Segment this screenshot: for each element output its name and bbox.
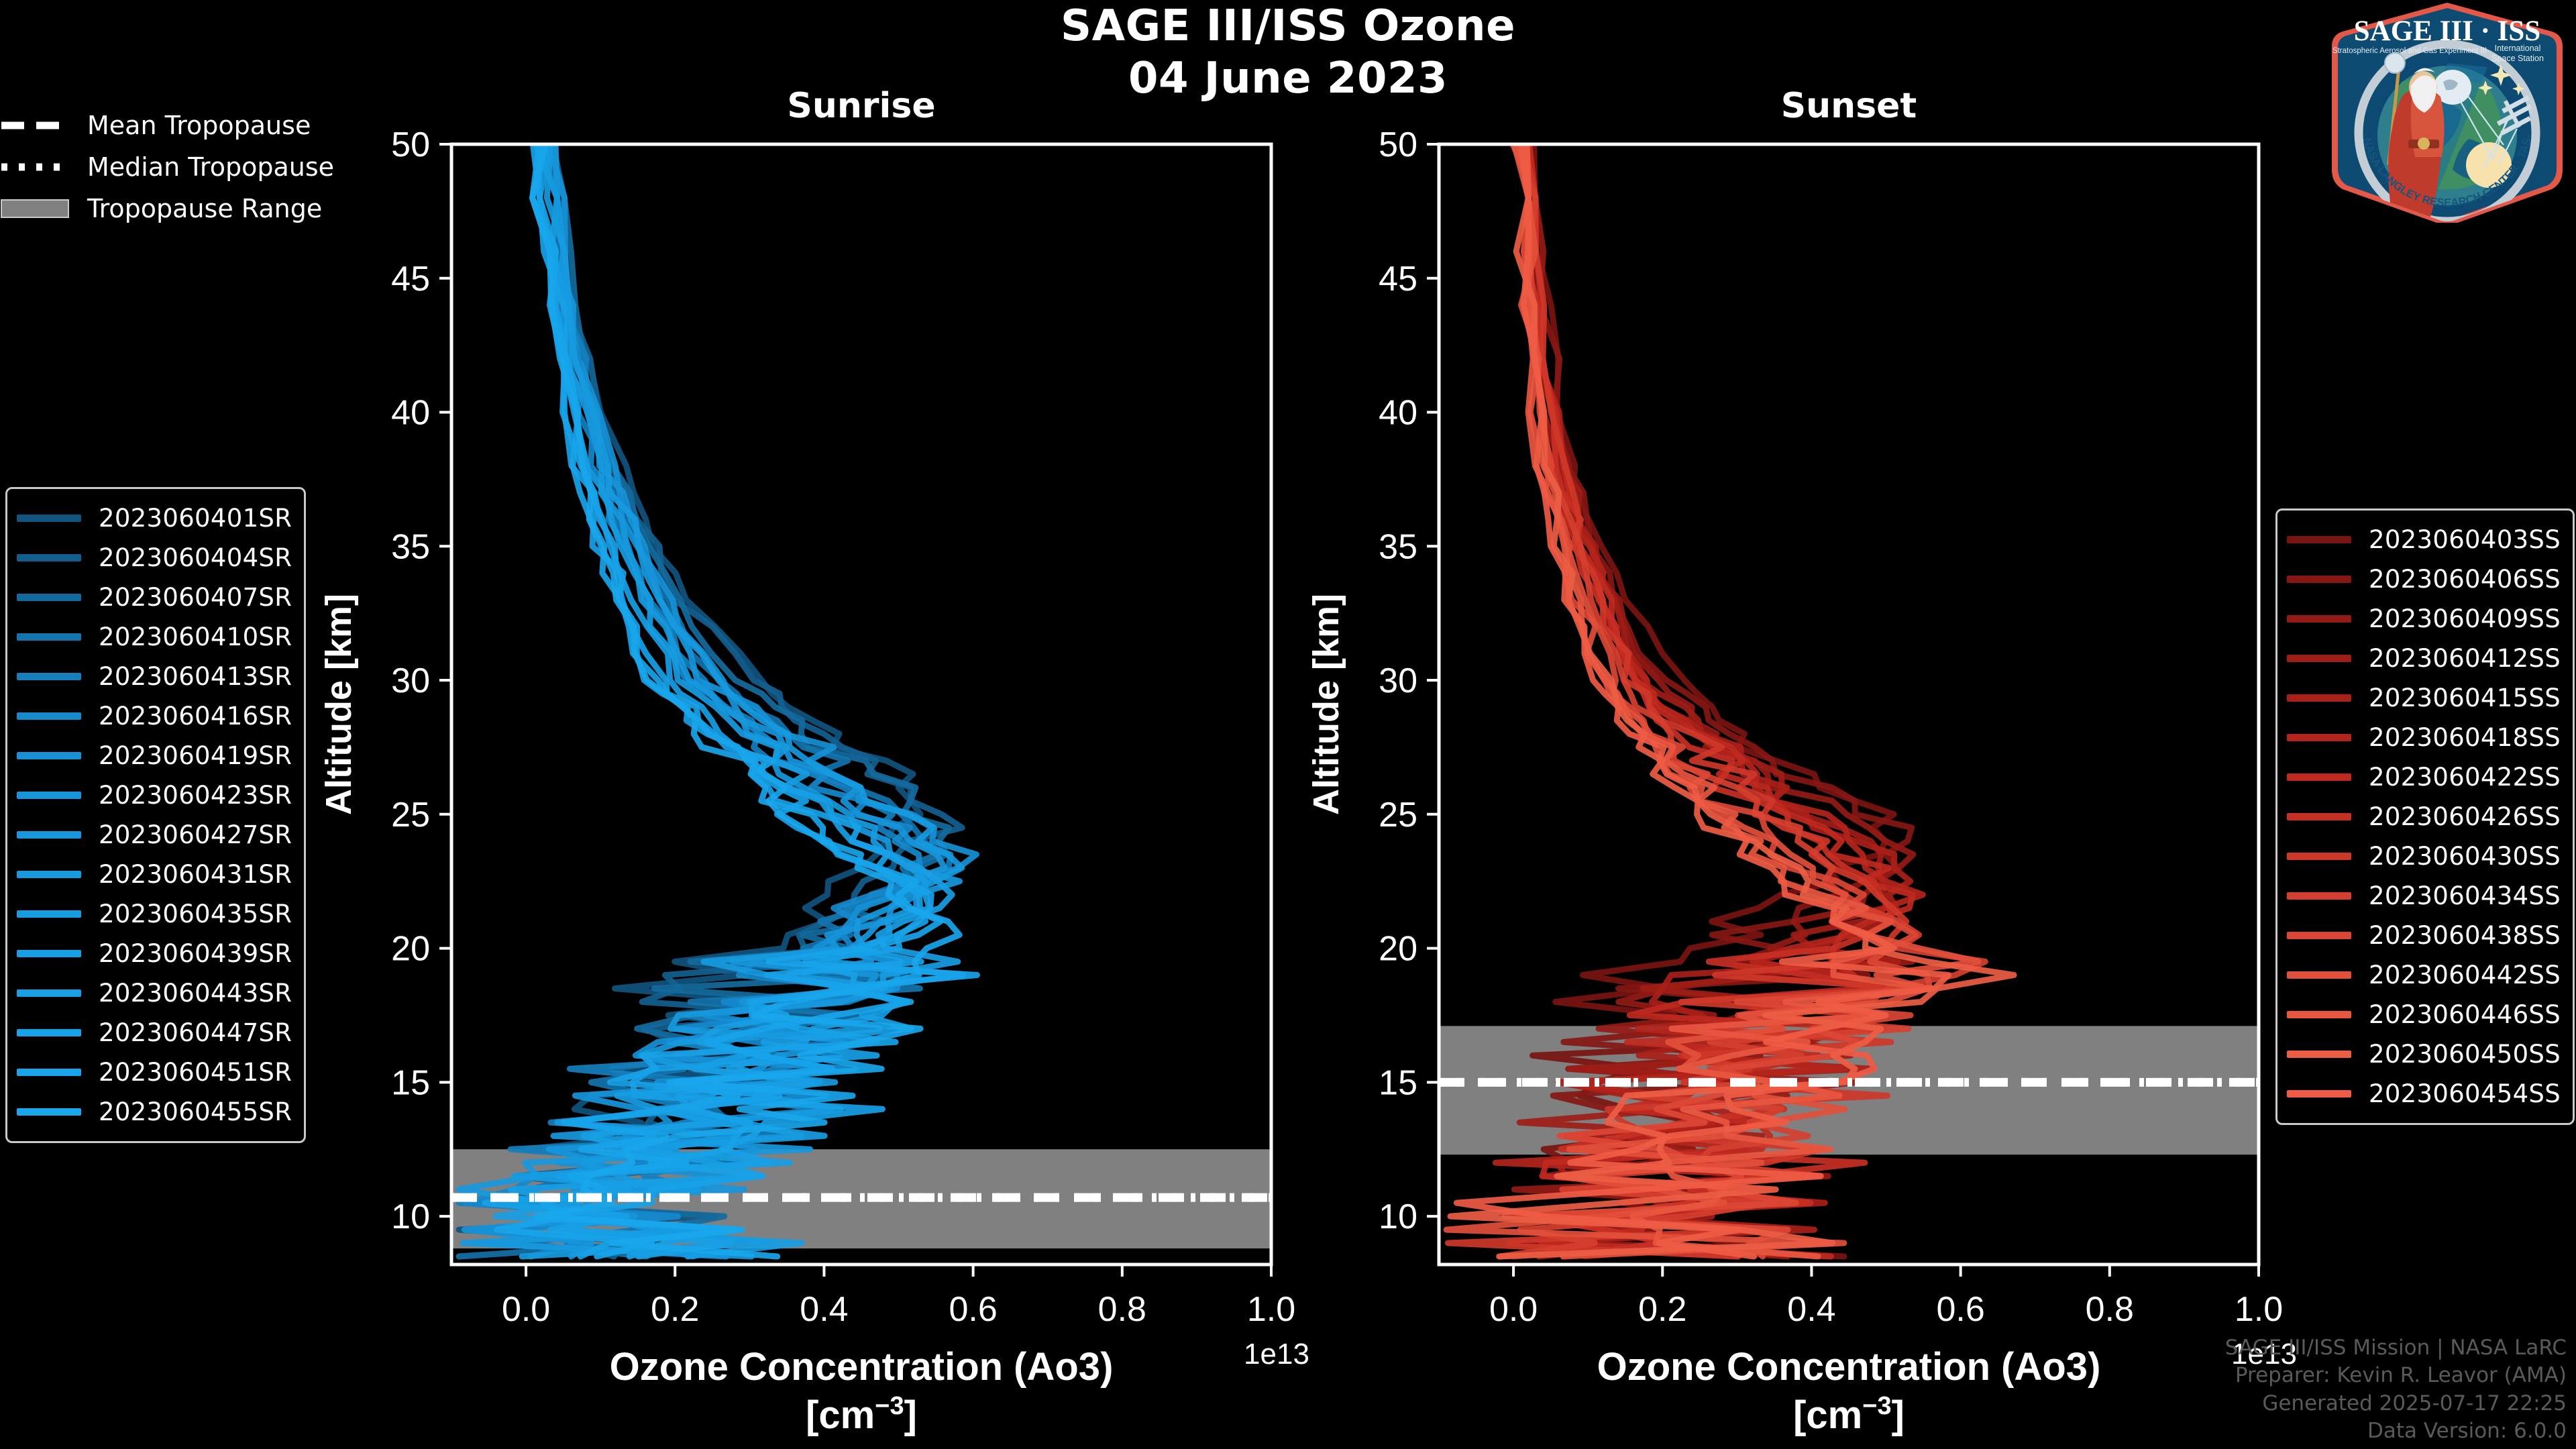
- sunset-legend-color-swatch: [2287, 773, 2351, 781]
- sunrise-y-tick-label: 30: [391, 661, 430, 700]
- logo-subtitle-left: Stratospheric Aerosol and Gas Experiment…: [2332, 47, 2487, 55]
- sunset-legend-item[interactable]: 2023060438SS: [2287, 916, 2561, 955]
- sunrise-legend[interactable]: 2023060401SR2023060404SR2023060407SR2023…: [5, 487, 306, 1143]
- sunset-legend-color-swatch: [2287, 1090, 2351, 1097]
- logo-subtitle-right-2: Space Station: [2491, 54, 2544, 63]
- sunset-legend-color-swatch: [2287, 694, 2351, 702]
- sunrise-legend-color-swatch: [17, 871, 81, 878]
- sunset-x-tick-label: 0.6: [1936, 1290, 1984, 1329]
- sunset-legend-color-swatch: [2287, 655, 2351, 662]
- sunset-legend-item[interactable]: 2023060409SS: [2287, 599, 2561, 639]
- sage-iii-iss-mission-patch-logo: SAGE III · ISS Stratospheric Aerosol and…: [2328, 1, 2567, 223]
- sunset-y-tick-label: 10: [1379, 1197, 1417, 1236]
- sunrise-x-tick-label: 0.0: [502, 1290, 550, 1329]
- sunrise-y-tick-label: 45: [391, 260, 430, 299]
- sunrise-y-tick-label: 40: [391, 394, 430, 433]
- sunset-legend-item[interactable]: 2023060434SS: [2287, 876, 2561, 916]
- sunset-legend-label: 2023060422SS: [2369, 763, 2561, 792]
- sunrise-legend-color-swatch: [17, 554, 81, 561]
- sunrise-legend-label: 2023060401SR: [99, 504, 292, 533]
- dotted-line-icon: [0, 157, 70, 177]
- sunrise-legend-label: 2023060410SR: [99, 623, 292, 651]
- sunset-legend-label: 2023060430SS: [2369, 842, 2561, 871]
- sunrise-legend-label: 2023060413SR: [99, 662, 292, 691]
- sunset-y-tick-label: 45: [1379, 260, 1417, 299]
- sunrise-legend-label: 2023060404SR: [99, 543, 292, 572]
- sunset-legend-item[interactable]: 2023060415SS: [2287, 678, 2561, 718]
- sunrise-legend-item[interactable]: 2023060443SR: [17, 973, 292, 1013]
- sunset-x-tick-label: 0.8: [2086, 1290, 2134, 1329]
- credits-block: SAGE III/ISS Mission | NASA LaRCPreparer…: [2225, 1334, 2567, 1445]
- sunset-legend-label: 2023060415SS: [2369, 684, 2561, 712]
- sunset-x-axis-label-line2: [cm−3]: [1793, 1392, 1904, 1437]
- sunset-x-tick-label: 0.4: [1787, 1290, 1835, 1329]
- sunrise-legend-label: 2023060431SR: [99, 860, 292, 889]
- sunset-legend-label: 2023060418SS: [2369, 723, 2561, 752]
- sunset-y-tick-label: 25: [1379, 796, 1417, 835]
- sunset-legend-item[interactable]: 2023060446SS: [2287, 995, 2561, 1034]
- sunset-legend-label: 2023060409SS: [2369, 604, 2561, 633]
- sunrise-x-tick-label: 0.2: [651, 1290, 699, 1329]
- sunset-legend-color-swatch: [2287, 813, 2351, 820]
- sunrise-legend-color-swatch: [17, 950, 81, 957]
- sunrise-legend-item[interactable]: 2023060413SR: [17, 657, 292, 696]
- sunset-x-axis-label-line1: Ozone Concentration (Ao3): [1597, 1345, 2101, 1389]
- sunset-legend-label: 2023060454SS: [2369, 1079, 2561, 1108]
- sunset-legend-label: 2023060412SS: [2369, 644, 2561, 673]
- sunset-legend-item[interactable]: 2023060430SS: [2287, 837, 2561, 876]
- sunrise-legend-item[interactable]: 2023060439SR: [17, 934, 292, 973]
- sunrise-legend-item[interactable]: 2023060431SR: [17, 855, 292, 894]
- sunrise-x-tick-label: 0.4: [800, 1290, 848, 1329]
- sunrise-legend-item[interactable]: 2023060455SR: [17, 1092, 292, 1132]
- sunrise-legend-color-swatch: [17, 1108, 81, 1116]
- sunset-legend-color-swatch: [2287, 932, 2351, 939]
- sunrise-legend-label: 2023060443SR: [99, 979, 292, 1008]
- sunrise-legend-label: 2023060427SR: [99, 820, 292, 849]
- sunrise-legend-color-swatch: [17, 712, 81, 720]
- sunset-legend-color-swatch: [2287, 615, 2351, 623]
- sunrise-legend-item[interactable]: 2023060451SR: [17, 1053, 292, 1092]
- sunset-legend-color-swatch: [2287, 576, 2351, 583]
- sunset-legend[interactable]: 2023060403SS2023060406SS2023060409SS2023…: [2275, 508, 2575, 1125]
- sunset-y-tick-label: 35: [1379, 527, 1417, 566]
- sunrise-x-axis-label-line2: [cm−3]: [806, 1392, 917, 1437]
- sunrise-legend-color-swatch: [17, 831, 81, 839]
- credits-line: Data Version: 6.0.0: [2225, 1417, 2567, 1445]
- sunset-legend-color-swatch: [2287, 734, 2351, 741]
- sunset-y-tick-label: 15: [1379, 1063, 1417, 1102]
- sunrise-legend-color-swatch: [17, 633, 81, 641]
- sunrise-legend-label: 2023060439SR: [99, 939, 292, 968]
- sunset-legend-label: 2023060403SS: [2369, 525, 2561, 554]
- sunset-legend-color-swatch: [2287, 892, 2351, 900]
- sunset-y-axis-label: Altitude [km]: [1306, 594, 1346, 815]
- sunrise-y-tick-label: 25: [391, 796, 430, 835]
- sunrise-legend-color-swatch: [17, 792, 81, 799]
- sunset-x-tick-label: 1.0: [2235, 1290, 2283, 1329]
- sunset-legend-item[interactable]: 2023060403SS: [2287, 520, 2561, 559]
- sunset-legend-item[interactable]: 2023060418SS: [2287, 718, 2561, 757]
- sunset-legend-item[interactable]: 2023060426SS: [2287, 797, 2561, 837]
- sunrise-legend-label: 2023060423SR: [99, 781, 292, 810]
- sunrise-legend-label: 2023060419SR: [99, 741, 292, 770]
- sunrise-x-tick-label: 0.6: [949, 1290, 997, 1329]
- sunset-legend-label: 2023060406SS: [2369, 565, 2561, 594]
- sunrise-legend-color-swatch: [17, 673, 81, 680]
- sunrise-legend-label: 2023060435SR: [99, 900, 292, 928]
- sunrise-legend-color-swatch: [17, 1029, 81, 1036]
- sunrise-legend-item[interactable]: 2023060407SR: [17, 578, 292, 617]
- sunset-legend-item[interactable]: 2023060406SS: [2287, 559, 2561, 599]
- sunset-legend-label: 2023060450SS: [2369, 1040, 2561, 1069]
- shaded-band-icon: [0, 199, 70, 219]
- sunrise-legend-color-swatch: [17, 1069, 81, 1076]
- sunset-legend-label: 2023060438SS: [2369, 921, 2561, 950]
- sunrise-legend-color-swatch: [17, 515, 81, 522]
- sunrise-legend-label: 2023060416SR: [99, 702, 292, 731]
- logo-subtitle-right-1: International: [2495, 44, 2541, 53]
- sunrise-legend-label: 2023060451SR: [99, 1058, 292, 1087]
- credits-line: Generated 2025-07-17 22:25: [2225, 1390, 2567, 1417]
- sunrise-legend-label: 2023060407SR: [99, 583, 292, 612]
- sunrise-x-tick-label: 0.8: [1098, 1290, 1146, 1329]
- sunrise-legend-item[interactable]: 2023060401SR: [17, 498, 292, 538]
- sunset-legend-label: 2023060442SS: [2369, 961, 2561, 989]
- sunrise-legend-item[interactable]: 2023060410SR: [17, 617, 292, 657]
- dashed-line-icon: [0, 115, 70, 136]
- sunset-y-tick-label: 20: [1379, 930, 1417, 969]
- sunset-legend-item[interactable]: 2023060422SS: [2287, 757, 2561, 797]
- sunset-plot-area: 0.00.20.40.60.81.0101520253035404550Alti…: [1306, 125, 2297, 1437]
- sunset-legend-item[interactable]: 2023060442SS: [2287, 955, 2561, 995]
- sunrise-legend-item[interactable]: 2023060435SR: [17, 894, 292, 934]
- sunset-legend-item[interactable]: 2023060450SS: [2287, 1034, 2561, 1074]
- sunrise-legend-item[interactable]: 2023060423SR: [17, 775, 292, 815]
- credits-line: SAGE III/ISS Mission | NASA LaRC: [2225, 1334, 2567, 1362]
- sunset-legend-item[interactable]: 2023060412SS: [2287, 639, 2561, 678]
- logo-title: SAGE III · ISS: [2354, 15, 2540, 47]
- sunrise-legend-item[interactable]: 2023060416SR: [17, 696, 292, 736]
- credits-line: Preparer: Kevin R. Leavor (AMA): [2225, 1362, 2567, 1389]
- sunset-y-tick-label: 40: [1379, 394, 1417, 433]
- sunrise-legend-color-swatch: [17, 910, 81, 918]
- sunrise-plot-area: 0.00.20.40.60.81.0101520253035404550Alti…: [319, 125, 1309, 1437]
- sunset-legend-color-swatch: [2287, 536, 2351, 543]
- sunset-x-tick-label: 0.0: [1489, 1290, 1538, 1329]
- sunrise-legend-color-swatch: [17, 752, 81, 759]
- sunset-y-tick-label: 30: [1379, 661, 1417, 700]
- sunrise-x-tick-label: 1.0: [1247, 1290, 1295, 1329]
- sunset-legend-color-swatch: [2287, 1051, 2351, 1058]
- sunrise-legend-item[interactable]: 2023060427SR: [17, 815, 292, 855]
- sunset-x-tick-label: 0.2: [1638, 1290, 1686, 1329]
- sunrise-x-axis-label-line1: Ozone Concentration (Ao3): [610, 1345, 1114, 1389]
- sunrise-legend-item[interactable]: 2023060447SR: [17, 1013, 292, 1053]
- sunrise-legend-label: 2023060455SR: [99, 1097, 292, 1126]
- sunrise-y-axis-label: Altitude [km]: [319, 594, 359, 815]
- sunrise-x-axis-exponent-label: 1e13: [1244, 1338, 1309, 1371]
- sunrise-y-tick-label: 10: [391, 1197, 430, 1236]
- sunset-legend-label: 2023060434SS: [2369, 881, 2561, 910]
- sunset-legend-label: 2023060426SS: [2369, 802, 2561, 831]
- sunset-legend-label: 2023060446SS: [2369, 1000, 2561, 1029]
- sunset-legend-color-swatch: [2287, 1011, 2351, 1018]
- sunrise-legend-item[interactable]: 2023060419SR: [17, 736, 292, 775]
- sunrise-legend-color-swatch: [17, 989, 81, 997]
- sunset-legend-color-swatch: [2287, 853, 2351, 860]
- sunrise-y-tick-label: 15: [391, 1063, 430, 1102]
- sunrise-legend-color-swatch: [17, 594, 81, 601]
- sunset-y-tick-label: 50: [1379, 125, 1417, 164]
- sunrise-y-tick-label: 35: [391, 527, 430, 566]
- ozone-profile-plots: 0.00.20.40.60.81.0101520253035404550Alti…: [0, 0, 2576, 1449]
- sunrise-legend-item[interactable]: 2023060404SR: [17, 538, 292, 578]
- sunrise-legend-label: 2023060447SR: [99, 1018, 292, 1047]
- sunset-legend-item[interactable]: 2023060454SS: [2287, 1074, 2561, 1114]
- sunrise-y-tick-label: 50: [391, 125, 430, 164]
- sunrise-y-tick-label: 20: [391, 930, 430, 969]
- sunset-legend-color-swatch: [2287, 971, 2351, 979]
